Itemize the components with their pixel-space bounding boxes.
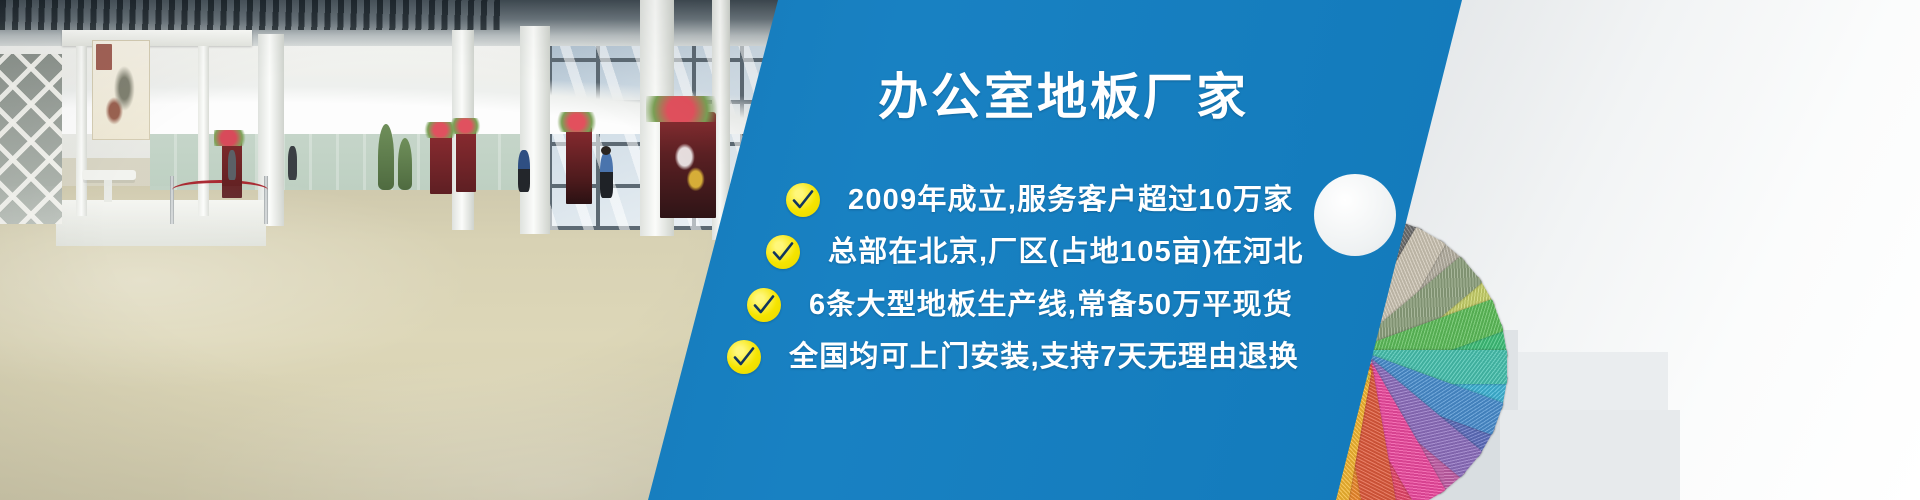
fan-hub — [1314, 174, 1396, 256]
list-item: 2009年成立,服务客户超过10万家 — [786, 183, 1293, 217]
list-item: 总部在北京,厂区(占地105亩)在河北 — [766, 235, 1304, 269]
check-circle-icon — [766, 235, 800, 269]
list-item: 6条大型地板生产线,常备50万平现货 — [747, 288, 1293, 322]
list-item-label: 总部在北京,厂区(占地105亩)在河北 — [828, 238, 1304, 267]
check-circle-icon — [747, 288, 781, 322]
promo-banner: 办公室地板厂家 2009年成立,服务客户超过10万家 总部在北京,厂区(占地10… — [0, 0, 1920, 500]
list-item-label: 6条大型地板生产线,常备50万平现货 — [809, 291, 1293, 320]
check-circle-icon — [727, 340, 761, 374]
list-item-label: 2009年成立,服务客户超过10万家 — [848, 186, 1293, 215]
page-title: 办公室地板厂家 — [878, 70, 1249, 125]
check-circle-icon — [786, 183, 820, 217]
list-item: 全国均可上门安装,支持7天无理由退换 — [727, 340, 1299, 374]
banner-content: 办公室地板厂家 2009年成立,服务客户超过10万家 总部在北京,厂区(占地10… — [0, 0, 1920, 500]
list-item-label: 全国均可上门安装,支持7天无理由退换 — [789, 343, 1299, 372]
